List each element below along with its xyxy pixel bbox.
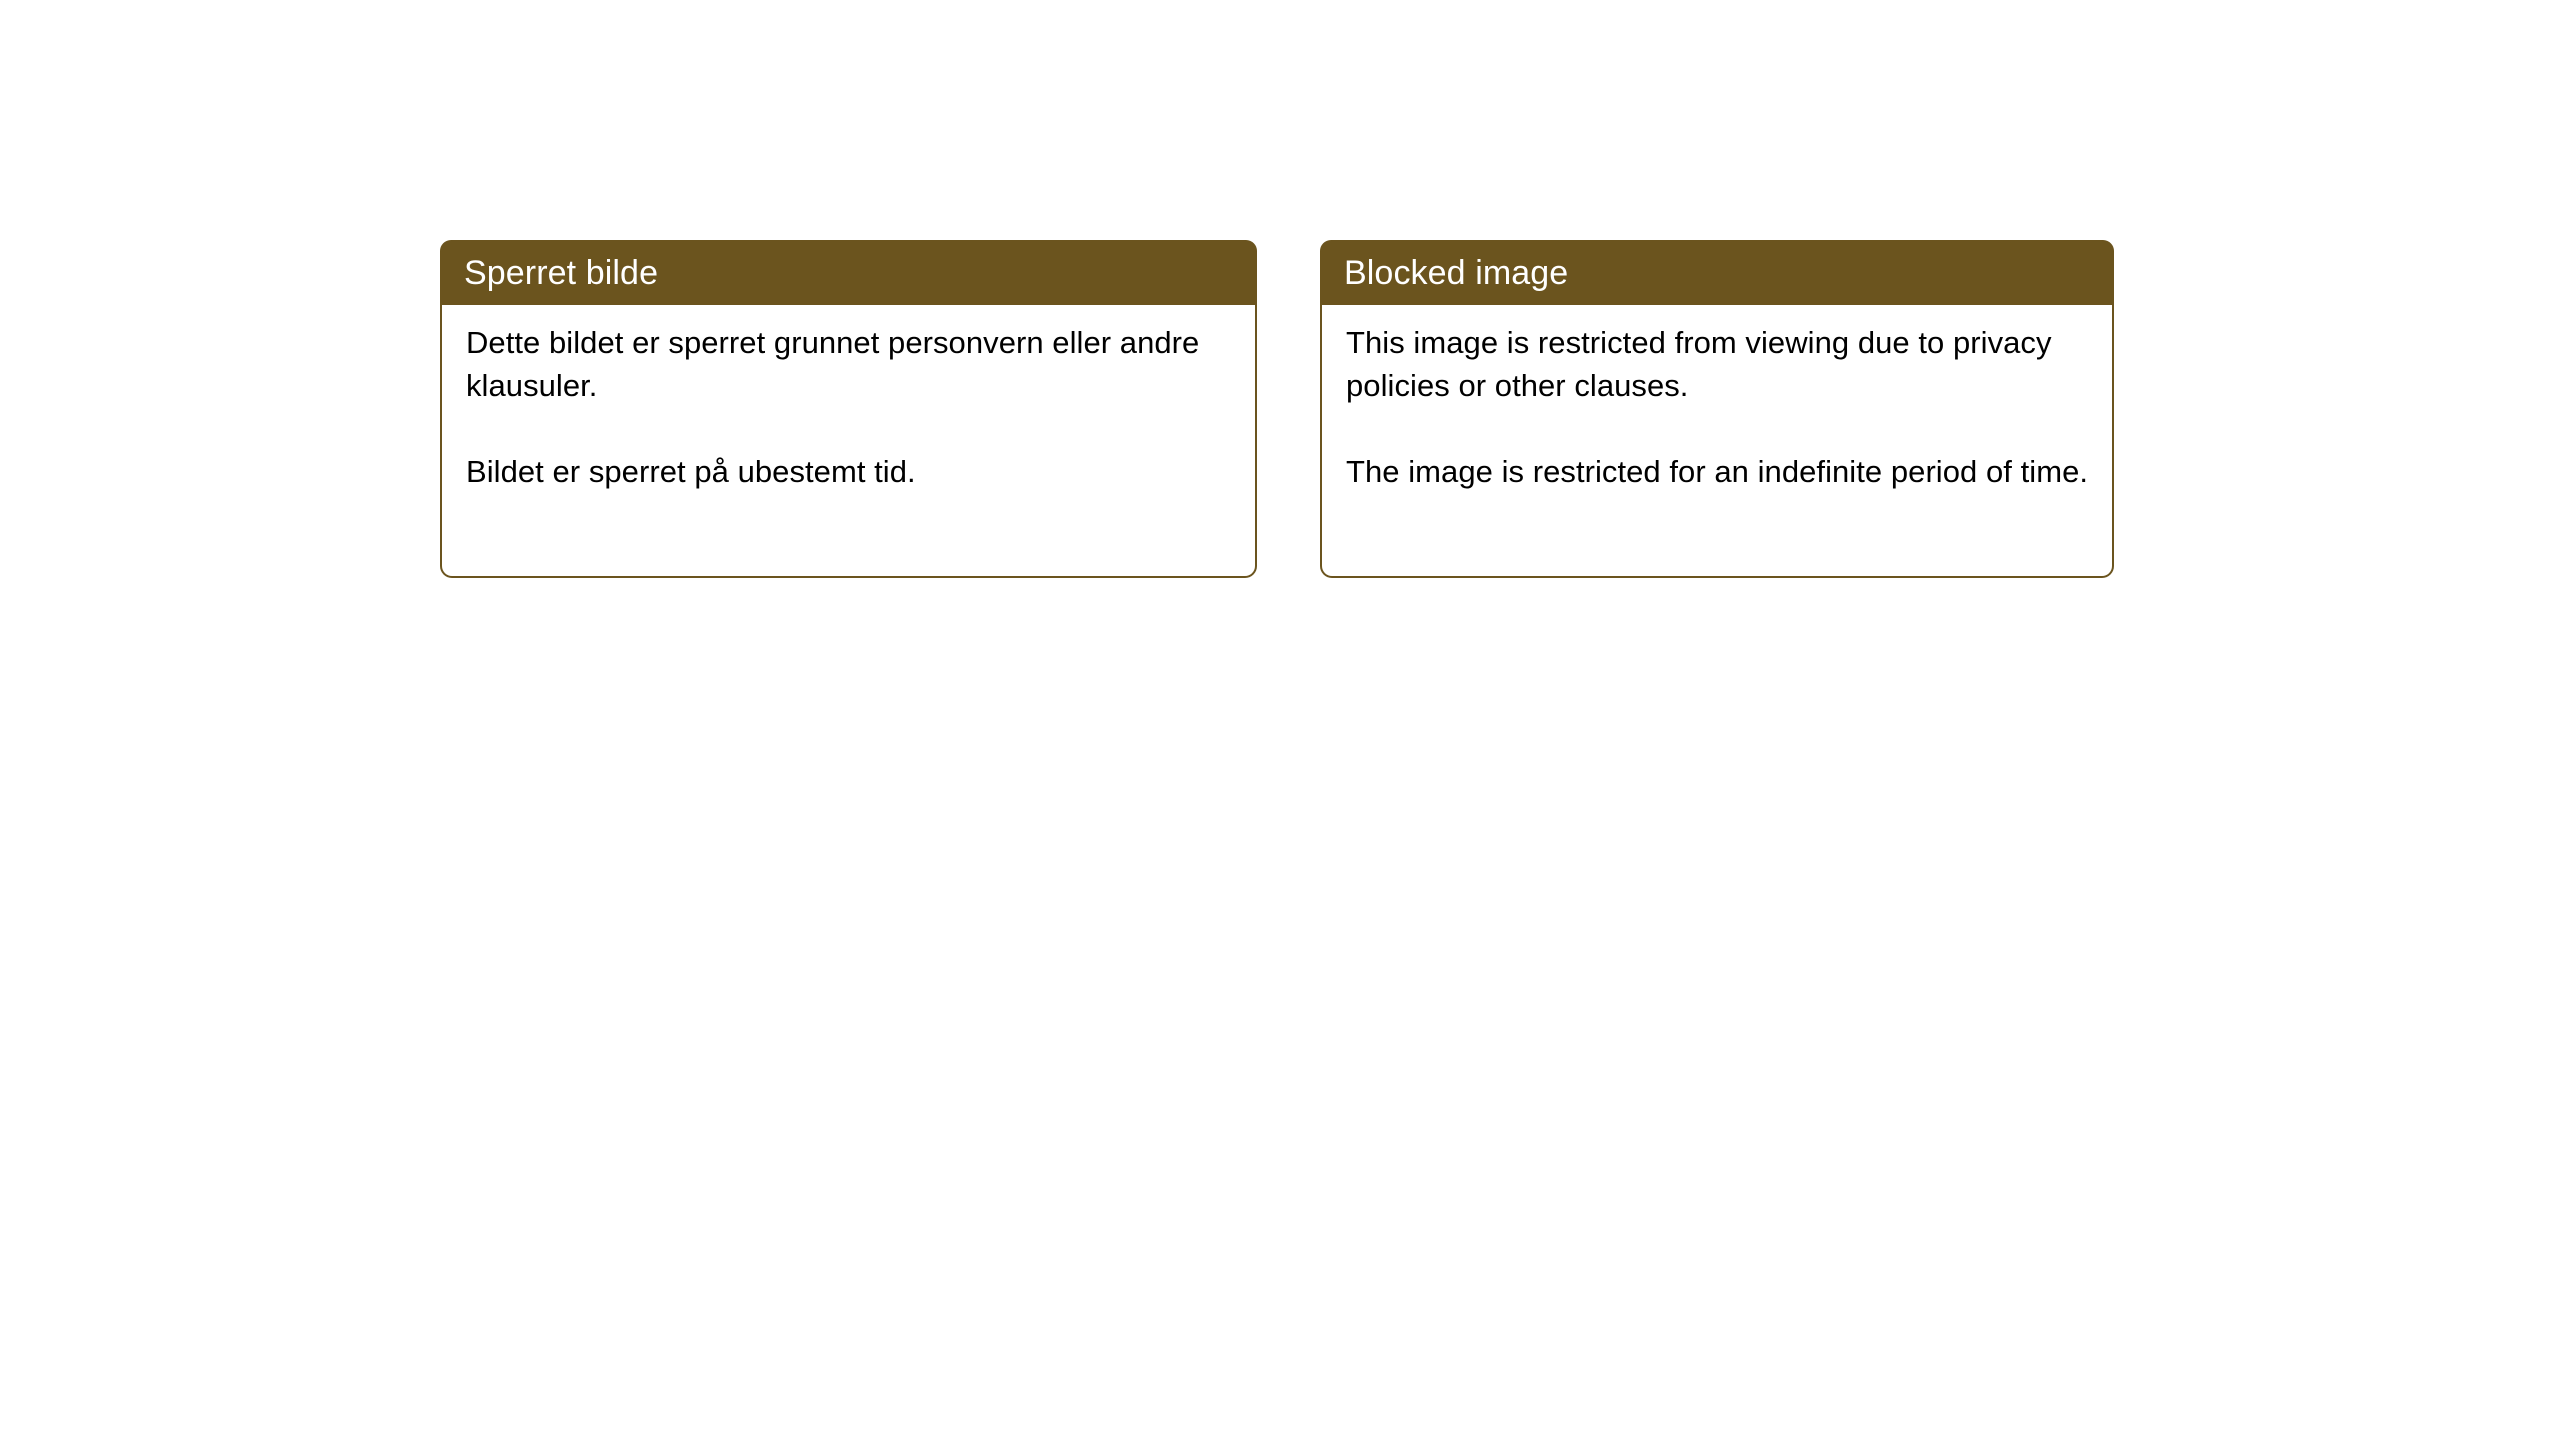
page-canvas: Sperret bilde Dette bildet er sperret gr… [0,0,2560,1440]
paragraph-spacer-no [466,407,1233,450]
card-title-en: Blocked image [1344,253,1568,293]
card-paragraph-no-2: Bildet er sperret på ubestemt tid. [466,450,1233,493]
card-body-no: Dette bildet er sperret grunnet personve… [440,305,1257,578]
card-header-en: Blocked image [1320,240,2114,305]
blocked-image-notice-card-no: Sperret bilde Dette bildet er sperret gr… [440,240,1257,578]
card-paragraph-no-1: Dette bildet er sperret grunnet personve… [466,321,1233,407]
card-header-no: Sperret bilde [440,240,1257,305]
card-title-no: Sperret bilde [464,253,658,293]
card-body-en: This image is restricted from viewing du… [1320,305,2114,578]
blocked-image-notice-card-en: Blocked image This image is restricted f… [1320,240,2114,578]
card-paragraph-en-1: This image is restricted from viewing du… [1346,321,2090,407]
paragraph-spacer-en [1346,407,2090,450]
card-paragraph-en-2: The image is restricted for an indefinit… [1346,450,2090,493]
